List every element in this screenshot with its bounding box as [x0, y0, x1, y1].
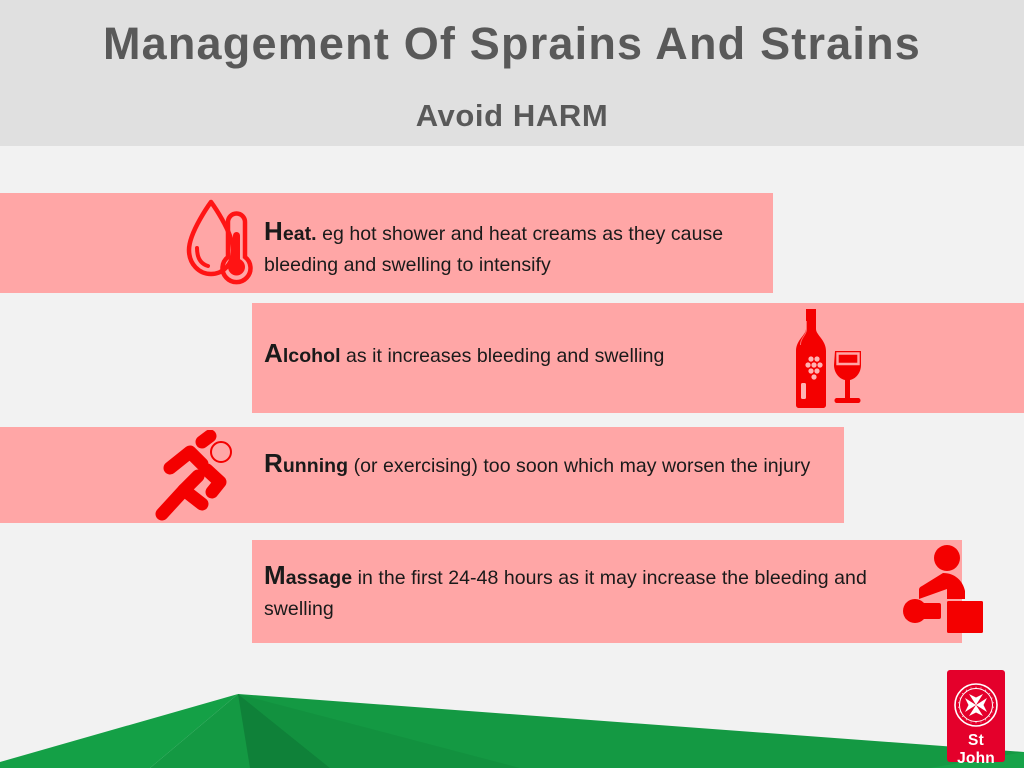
page-title: Management Of Sprains And Strains — [0, 16, 1024, 72]
massage-person-icon — [903, 543, 989, 640]
bar-text-running: Running (or exercising) too soon which m… — [264, 451, 839, 482]
keyword-massage: assage — [286, 567, 352, 589]
initial-letter-heat: H — [264, 216, 283, 246]
body-text-heat: eg hot shower and heat creams as they ca… — [264, 223, 723, 276]
running-person-icon — [150, 430, 242, 527]
body-text-running: (or exercising) too soon which may worse… — [348, 455, 810, 477]
water-drop-thermometer-icon — [183, 196, 257, 293]
bar-text-massage: Massage in the first 24-48 hours as it m… — [264, 563, 879, 625]
slide-canvas: Management Of Sprains And Strains Avoid … — [0, 0, 1024, 768]
slide-header: Management Of Sprains And Strains Avoid … — [0, 0, 1024, 146]
page-subtitle: Avoid HARM — [0, 97, 1024, 135]
keyword-heat: eat. — [283, 223, 317, 245]
content-bar-massage: Massage in the first 24-48 hours as it m… — [252, 540, 962, 643]
initial-letter-alcohol: A — [264, 338, 283, 368]
body-text-alcohol: as it increases bleeding and swelling — [341, 345, 665, 367]
content-bar-alcohol: Alcohol as it increases bleeding and swe… — [252, 303, 1024, 413]
decorative-green-polygon — [0, 650, 1024, 768]
body-text-massage: in the first 24-48 hours as it may incre… — [264, 567, 867, 620]
content-bar-running: Running (or exercising) too soon which m… — [0, 427, 844, 523]
maltese-cross-icon — [954, 683, 998, 727]
bar-text-heat: Heat. eg hot shower and heat creams as t… — [264, 219, 764, 281]
st-john-logo: St John — [947, 670, 1005, 762]
initial-letter-running: R — [264, 448, 283, 478]
wine-bottle-glass-icon — [787, 307, 867, 414]
logo-label: St John — [947, 732, 1005, 768]
keyword-running: unning — [283, 455, 348, 477]
content-bar-heat: Heat. eg hot shower and heat creams as t… — [0, 193, 773, 293]
initial-letter-massage: M — [264, 560, 286, 590]
bar-text-alcohol: Alcohol as it increases bleeding and swe… — [264, 341, 784, 372]
keyword-alcohol: lcohol — [283, 345, 341, 367]
